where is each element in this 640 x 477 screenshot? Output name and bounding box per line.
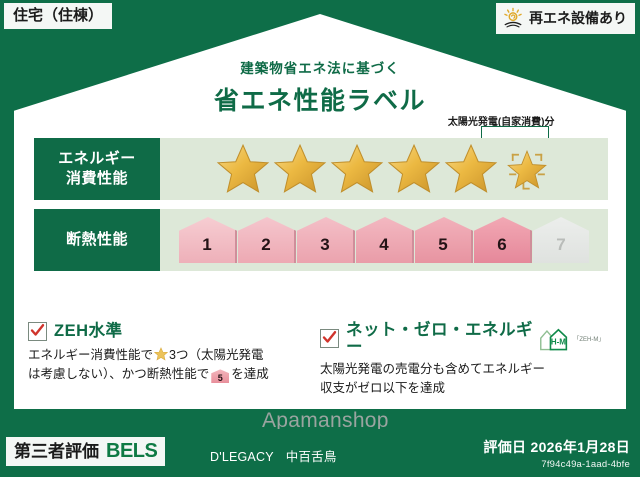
star-slot-6-solar: 太陽光発電(自家消費)分 <box>501 144 553 194</box>
achievement-zeh-description: エネルギー消費性能で3つ（太陽光発電 は考慮しない）、かつ断熱性能で5を達成 <box>28 346 310 385</box>
insulation-level-chip: 3 <box>297 217 355 263</box>
zeh-m-house-logo-icon: H-M <box>539 327 569 351</box>
insulation-level-value: 5 <box>438 235 447 255</box>
insulation-level-chip-inactive: 7 <box>533 217 589 263</box>
star-icon <box>387 143 441 195</box>
insulation-level-value: 3 <box>320 235 329 255</box>
bels-logo-text: BELS <box>106 441 157 461</box>
building-name-area: 中百舌鳥 <box>286 450 337 464</box>
achievement-zeh-header: ZEH水準 <box>28 322 310 341</box>
achievement-net-zero-title: ネット・ゼロ・エネルギー <box>346 322 534 355</box>
energy-performance-label: 住宅（住棟） 再エネ設備あり 建築物省エネ法に基づく 省エネ性能ラベル <box>0 0 640 477</box>
insulation-label-line1: 断熱性能 <box>66 231 128 250</box>
star-icon <box>444 143 498 195</box>
renewable-equipment-badge: 再エネ設備あり <box>496 3 635 34</box>
svg-text:H-M: H-M <box>551 337 566 346</box>
energy-performance-label-box: エネルギー 消費性能 <box>34 138 160 200</box>
zeh-desc-part3: を達成 <box>231 367 269 381</box>
star-slot-1 <box>216 143 270 195</box>
star-icon <box>216 143 270 195</box>
evaluation-info: 評価日 2026年1月28日 7f94c49a-1aad-4bfe <box>483 437 630 470</box>
insulation-level-value: 7 <box>556 235 565 255</box>
sun-solar-icon <box>502 7 524 29</box>
net-zero-desc-line2: 収支がゼロ以下を達成 <box>320 381 445 395</box>
energy-label-line1: エネルギー <box>58 150 136 169</box>
building-name-main: D'LEGACY <box>210 450 274 464</box>
ratings-section: エネルギー 消費性能 <box>34 138 608 280</box>
energy-performance-row: エネルギー 消費性能 <box>34 138 608 200</box>
label-subtitle: 建築物省エネ法に基づく <box>0 57 640 77</box>
insulation-level-value: 1 <box>202 235 211 255</box>
energy-label-line2: 消費性能 <box>66 170 128 189</box>
insulation-level-chip: 5 <box>415 217 473 263</box>
building-name: D'LEGACY中百舌鳥 <box>210 446 337 465</box>
star-icon <box>330 143 384 195</box>
checkbox-checked-icon <box>320 329 339 348</box>
checkbox-checked-icon <box>28 322 47 341</box>
insulation-performance-row: 断熱性能 1 2 3 4 5 6 <box>34 209 608 271</box>
insulation-level-chip: 2 <box>238 217 296 263</box>
achievement-net-zero: ネット・ゼロ・エネルギー H-M 「ZEH-M」 太陽光発電の売電分も含めてエネ… <box>320 322 612 399</box>
inline-insulation-badge: 5 <box>211 369 229 383</box>
insulation-level-value: 4 <box>379 235 388 255</box>
star-slot-4 <box>387 143 441 195</box>
zeh-desc-part1: エネルギー消費性能で <box>28 348 153 362</box>
evaluation-date: 評価日 2026年1月28日 <box>483 437 630 457</box>
star-slot-3 <box>330 143 384 195</box>
insulation-level-chip-achieved: 6 <box>474 217 532 263</box>
house-type-tag: 住宅（住棟） <box>4 3 112 29</box>
card-title-block: 建築物省エネ法に基づく 省エネ性能ラベル <box>0 57 640 117</box>
solar-bracket <box>481 126 549 138</box>
zeh-desc-stars: 3つ（太陽光発電 <box>169 348 263 362</box>
insulation-level-chip: 1 <box>179 217 237 263</box>
label-title: 省エネ性能ラベル <box>0 81 640 117</box>
net-zero-desc-line1: 太陽光発電の売電分も含めてエネルギー <box>320 362 545 376</box>
insulation-level-value: 2 <box>261 235 270 255</box>
zeh-desc-part2: は考慮しない）、かつ断熱性能で <box>28 367 209 381</box>
star-slot-5 <box>444 143 498 195</box>
renewable-badge-label: 再エネ設備あり <box>529 11 627 25</box>
star-slot-2 <box>273 143 327 195</box>
achievement-net-zero-description: 太陽光発電の売電分も含めてエネルギー 収支がゼロ以下を達成 <box>320 360 602 399</box>
zeh-m-logo-caption: 「ZEH-M」 <box>573 334 602 343</box>
energy-star-rating: 太陽光発電(自家消費)分 <box>160 138 608 200</box>
insulation-performance-label-box: 断熱性能 <box>34 209 160 271</box>
star-icon <box>273 143 327 195</box>
footer-bar: 第三者評価 BELS D'LEGACY中百舌鳥 評価日 2026年1月28日 7… <box>0 429 640 477</box>
evaluation-id: 7f94c49a-1aad-4bfe <box>483 459 630 470</box>
achievements-section: ZEH水準 エネルギー消費性能で3つ（太陽光発電 は考慮しない）、かつ断熱性能で… <box>28 322 612 399</box>
bels-badge: 第三者評価 BELS <box>6 437 165 466</box>
bels-third-party-label: 第三者評価 <box>14 443 99 460</box>
insulation-level-scale: 1 2 3 4 5 6 7 <box>160 209 608 271</box>
insulation-level-value: 6 <box>497 235 506 255</box>
achievement-zeh-title: ZEH水準 <box>54 323 123 340</box>
insulation-level-chip: 4 <box>356 217 414 263</box>
achievement-net-zero-header: ネット・ゼロ・エネルギー H-M 「ZEH-M」 <box>320 322 602 355</box>
star-sparkle-solar-icon <box>501 144 553 194</box>
inline-star-icon <box>154 347 168 361</box>
achievement-zeh: ZEH水準 エネルギー消費性能で3つ（太陽光発電 は考慮しない）、かつ断熱性能で… <box>28 322 320 399</box>
